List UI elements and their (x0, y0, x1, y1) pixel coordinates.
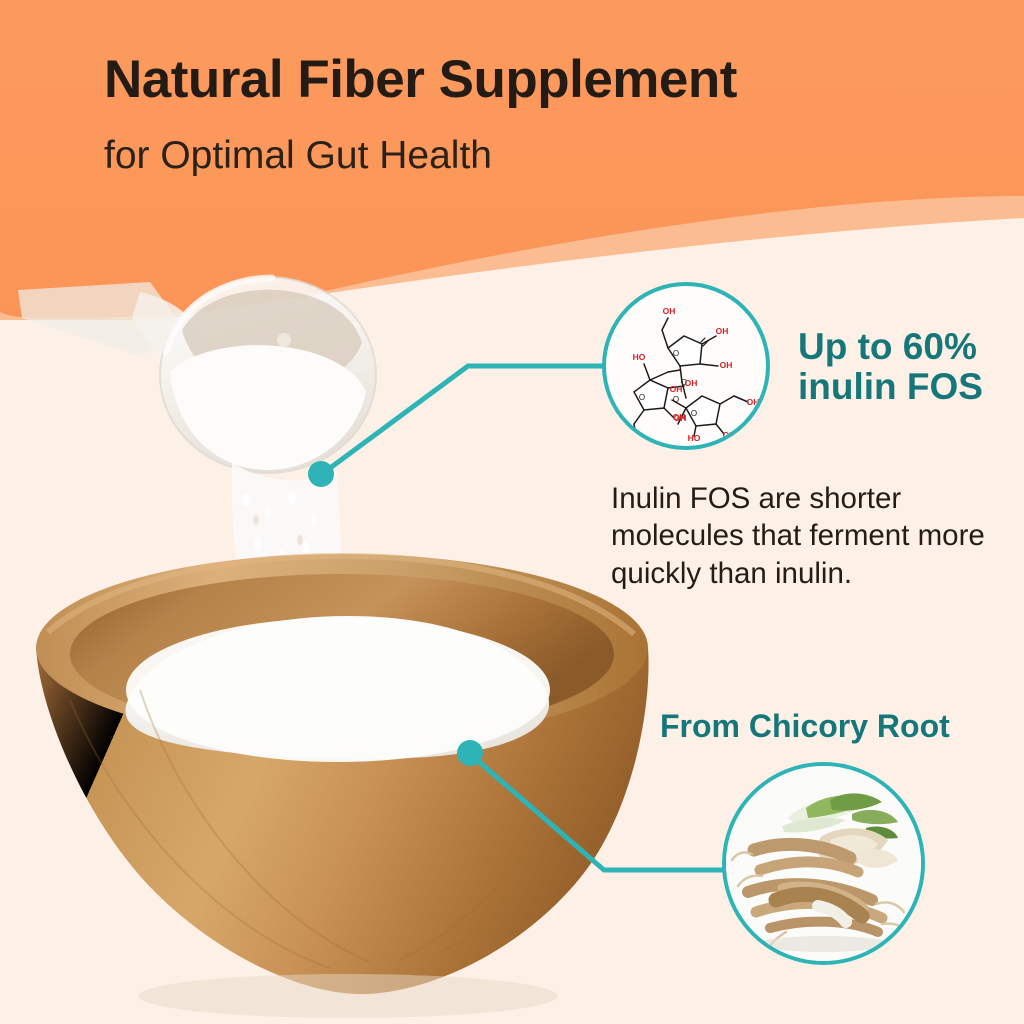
svg-text:O: O (639, 393, 645, 402)
svg-text:OH: OH (720, 360, 733, 370)
inulin-callout-title-line2: inulin FOS (798, 367, 1024, 407)
svg-text:O: O (691, 409, 697, 418)
svg-text:OH: OH (747, 397, 760, 407)
inulin-callout-title-line1: Up to 60% (798, 327, 1024, 367)
svg-text:OH: OH (716, 326, 729, 336)
infographic-canvas: Natural Fiber Supplement for Optimal Gut… (0, 0, 1024, 1024)
molecular-structure-diagram: O O O O O OH OH OH HO OH OH OH OH OH HO … (606, 286, 766, 446)
chicory-callout-title: From Chicory Root (660, 709, 1020, 743)
svg-text:O: O (673, 395, 679, 404)
svg-text:OH: OH (670, 384, 683, 394)
svg-text:O: O (673, 349, 679, 358)
inulin-molecule-circle: O O O O O OH OH OH HO OH OH OH OH OH HO … (602, 282, 770, 450)
svg-text:OH: OH (663, 306, 676, 316)
wooden-bowl (36, 554, 649, 1018)
page-title: Natural Fiber Supplement (104, 49, 737, 110)
chicory-root-photo (726, 766, 921, 961)
svg-text:OH: OH (673, 412, 686, 422)
powder-scoop (18, 277, 376, 473)
inulin-callout-body: Inulin FOS are shorter molecules that fe… (611, 480, 1011, 592)
page-subtitle: for Optimal Gut Health (104, 134, 492, 178)
svg-text:OH: OH (685, 378, 698, 388)
svg-text:HO: HO (633, 352, 646, 362)
chicory-root-circle (722, 762, 925, 965)
inulin-callout-title: Up to 60% inulin FOS (798, 327, 1024, 406)
svg-text:HO: HO (688, 433, 701, 443)
